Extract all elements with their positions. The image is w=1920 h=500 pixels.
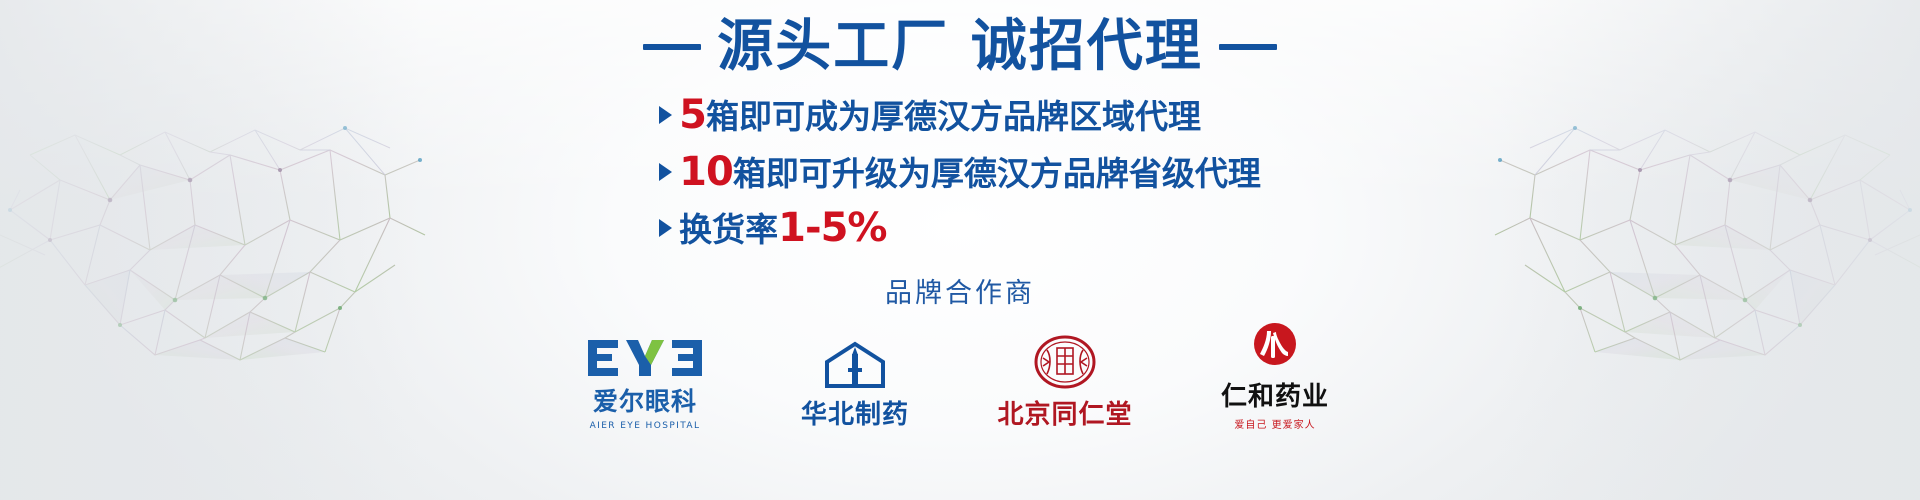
list-item: 换货率 1-5%	[659, 202, 886, 255]
triangle-bullet-icon	[659, 106, 672, 124]
partner-name-cn: 华北制药	[801, 394, 909, 431]
benefit-number: 10	[679, 146, 733, 199]
benefit-rate: 1-5%	[778, 202, 886, 255]
benefit-number: 5	[679, 89, 706, 142]
promo-banner: 源头工厂 诚招代理 5 箱即可成为厚德汉方品牌区域代理 10 箱即可升级为厚德汉…	[0, 0, 1920, 500]
triangle-bullet-icon	[659, 219, 672, 237]
partner-name-cn: 北京同仁堂	[997, 394, 1132, 431]
building-icon	[819, 338, 891, 394]
eye-wordmark-icon	[586, 338, 704, 382]
banner-content: 源头工厂 诚招代理 5 箱即可成为厚德汉方品牌区域代理 10 箱即可升级为厚德汉…	[0, 0, 1920, 500]
benefit-text: 箱即可成为厚德汉方品牌区域代理	[706, 95, 1201, 139]
benefit-label: 换货率	[679, 208, 778, 252]
banner-title: 源头工厂 诚招代理	[643, 18, 1277, 77]
partner-logo-row: 爱尔眼科 AIER EYE HOSPITAL	[570, 320, 1350, 431]
partner-logo-huabei[interactable]: 华北制药	[780, 338, 930, 431]
partner-logo-aier[interactable]: 爱尔眼科 AIER EYE HOSPITAL	[570, 338, 720, 431]
seal-icon	[1033, 334, 1097, 394]
list-item: 10 箱即可升级为厚德汉方品牌省级代理	[659, 146, 1261, 199]
partner-name-cn: 仁和药业	[1221, 376, 1329, 413]
partner-logo-renhe[interactable]: 仁和药业 爱自己 更爱家人	[1200, 320, 1350, 431]
partner-name-cn: 爱尔眼科	[593, 382, 697, 418]
circle-ren-icon	[1249, 320, 1301, 376]
triangle-bullet-icon	[659, 163, 672, 181]
list-item: 5 箱即可成为厚德汉方品牌区域代理	[659, 89, 1201, 142]
benefit-text: 箱即可升级为厚德汉方品牌省级代理	[733, 152, 1261, 196]
partners-heading: 品牌合作商	[885, 271, 1035, 310]
partner-logo-tongrentang[interactable]: 北京同仁堂	[990, 334, 1140, 431]
benefit-list: 5 箱即可成为厚德汉方品牌区域代理 10 箱即可升级为厚德汉方品牌省级代理 换货…	[659, 89, 1261, 255]
title-dash-right-icon	[1219, 44, 1277, 50]
partner-name-en: AIER EYE HOSPITAL	[590, 421, 701, 431]
title-dash-left-icon	[643, 44, 701, 50]
partner-tagline: 爱自己 更爱家人	[1234, 416, 1315, 431]
title-text: 源头工厂 诚招代理	[717, 18, 1203, 77]
